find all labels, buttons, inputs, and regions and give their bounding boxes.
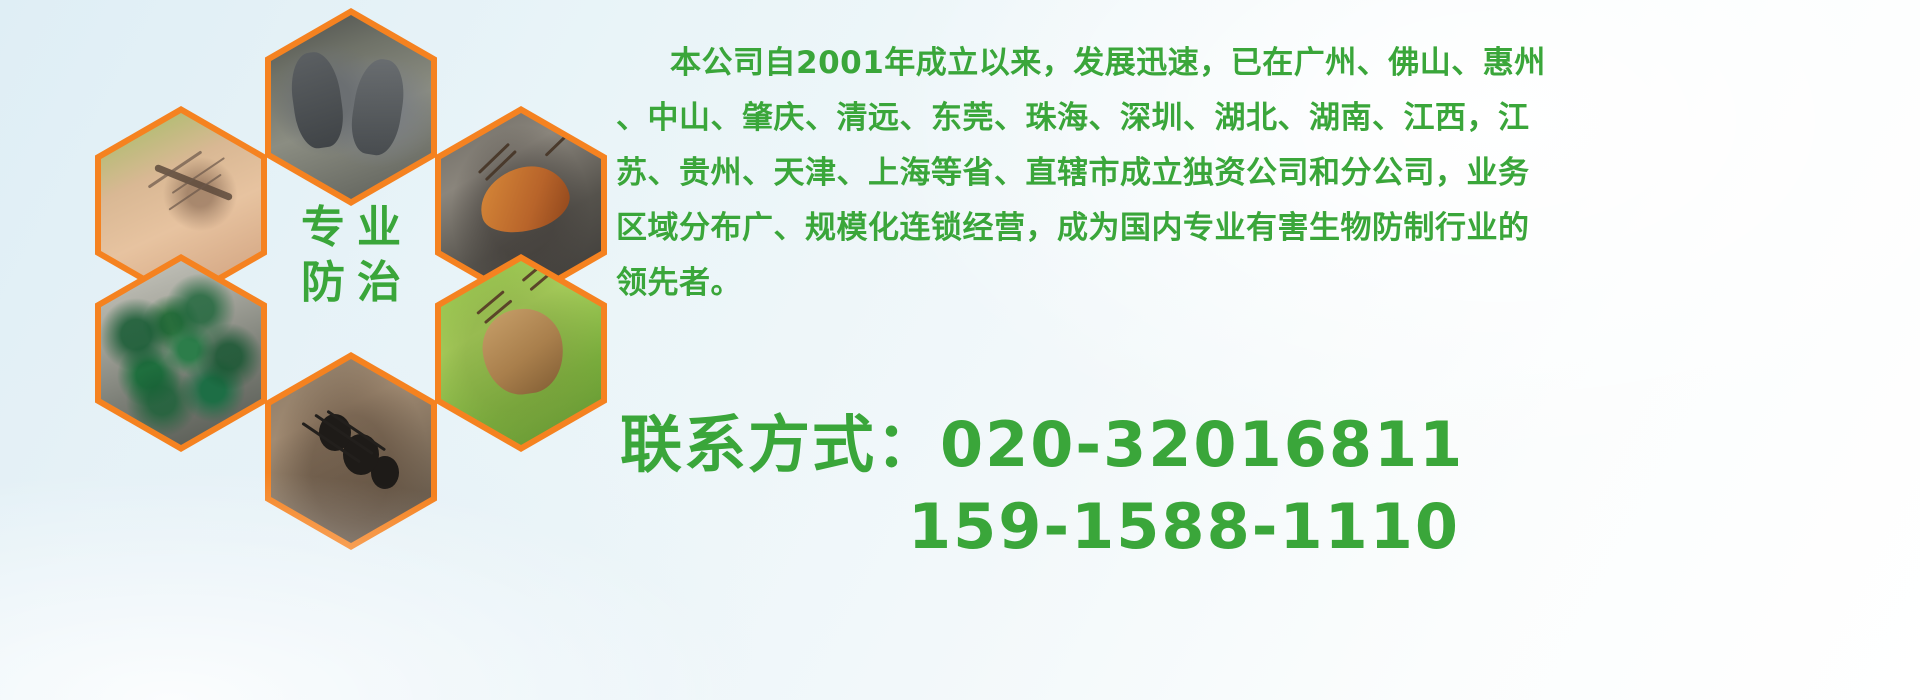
stink-bug-icon (441, 261, 601, 445)
promo-banner: 专业 防治 本公司自2001年成立以来，发展迅速，已在广州、佛山、惠州 、中山、… (0, 0, 1920, 700)
flies-icon (101, 261, 261, 445)
slogan-badge: 专业 防治 (265, 156, 437, 354)
slogan-line-2: 防治 (289, 255, 413, 310)
description-line-2: 、中山、肇庆、清远、东莞、珠海、深圳、湖北、湖南、江西，江 (616, 91, 1906, 146)
description-line-5: 领先者。 (616, 256, 1906, 311)
company-description: 本公司自2001年成立以来，发展迅速，已在广州、佛山、惠州 、中山、肇庆、清远、… (616, 36, 1906, 311)
contact-phone-secondary[interactable]: 159-1588-1110 (620, 486, 1910, 568)
slogan-line-1: 专业 (289, 200, 413, 255)
hex-photo-flies-inner (101, 261, 261, 445)
hex-photo-stink-bug[interactable] (435, 254, 607, 452)
ant-icon (271, 359, 431, 543)
description-line-1: 本公司自2001年成立以来，发展迅速，已在广州、佛山、惠州 (616, 36, 1906, 91)
hex-photo-ant-inner (271, 359, 431, 543)
description-line-1-text: 本公司自2001年成立以来，发展迅速，已在广州、佛山、惠州 (670, 45, 1546, 81)
hex-photo-stink-bug-inner (441, 261, 601, 445)
description-line-4: 区域分布广、规模化连锁经营，成为国内专业有害生物防制行业的 (616, 201, 1906, 256)
contact-block: 联系方式：020-32016811 159-1588-1110 (620, 404, 1910, 568)
hex-photo-ant[interactable] (265, 352, 437, 550)
hex-photo-flies[interactable] (95, 254, 267, 452)
honeycomb-photo-cluster: 专业 防治 (95, 8, 595, 568)
contact-phone-primary[interactable]: 联系方式：020-32016811 (620, 404, 1910, 486)
description-line-3: 苏、贵州、天津、上海等省、直辖市成立独资公司和分公司，业务 (616, 146, 1906, 201)
